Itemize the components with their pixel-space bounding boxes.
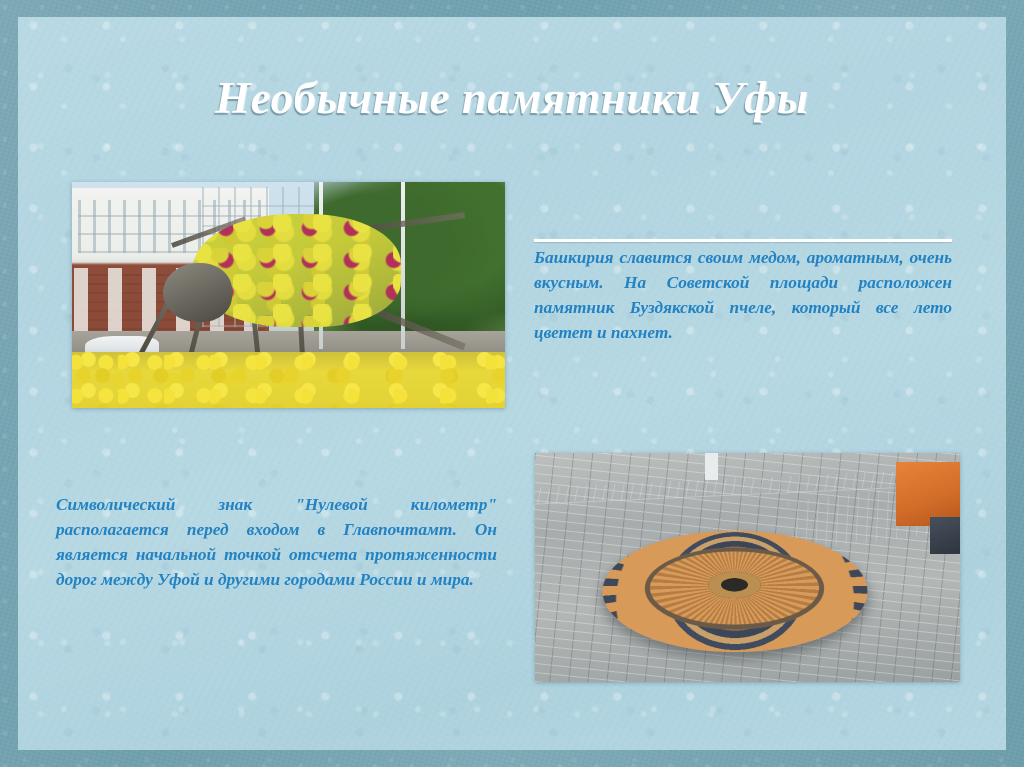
- page-title: Необычные памятники Уфы: [0, 72, 1024, 124]
- photo-zerokm-inner: [535, 453, 960, 682]
- photo-zero-kilometer-sign: [535, 453, 960, 682]
- paragraph-zero-kilometer: Символический знак "Нулевой километр" ра…: [56, 492, 497, 592]
- paragraph-bee-monument: Башкирия славится своим медом, ароматным…: [534, 245, 952, 345]
- presentation-slide: Необычные памятники Уфы Башкирия славитс…: [0, 0, 1024, 767]
- bee-flower-bed: [72, 352, 505, 409]
- bee-head: [163, 263, 232, 322]
- photo-bee-monument: [72, 182, 505, 408]
- zerokm-dark-object: [930, 517, 960, 554]
- photo-bee-inner: [72, 182, 505, 408]
- zerokm-white-marker: [705, 453, 718, 480]
- divider-line-bee: [534, 239, 952, 242]
